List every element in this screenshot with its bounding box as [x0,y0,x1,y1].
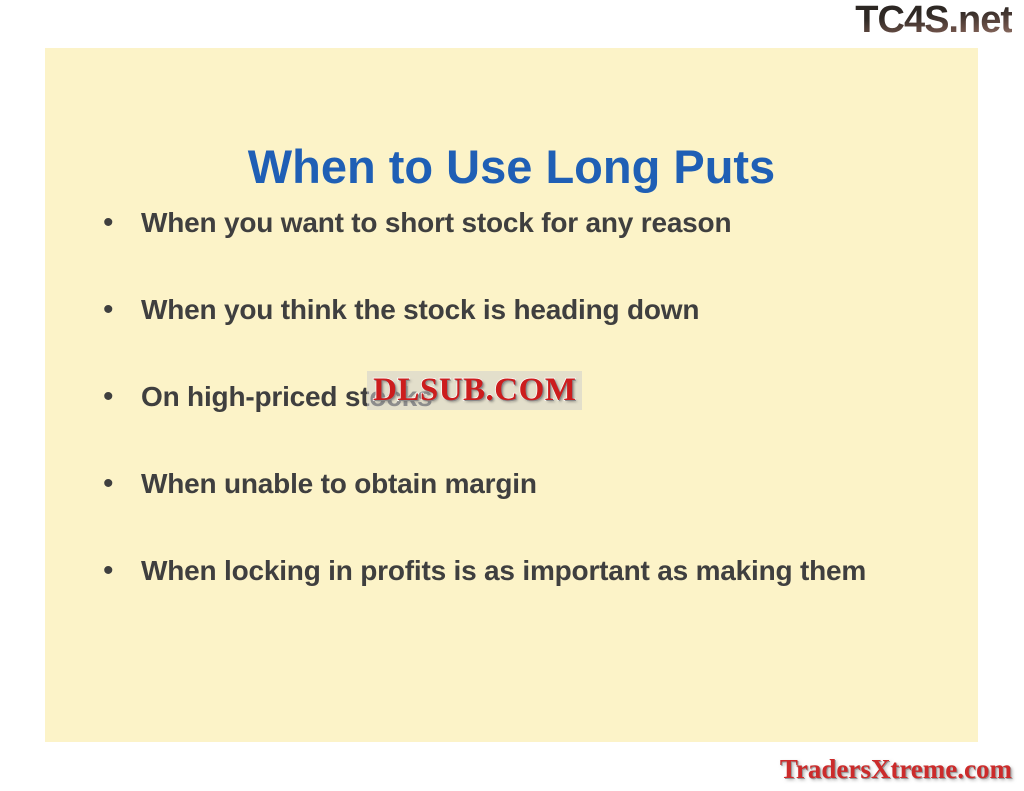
bullet-dot-icon: • [100,551,141,591]
list-item: • When unable to obtain margin [100,464,960,504]
page-title: When to Use Long Puts [45,141,978,193]
bullet-dot-icon: • [100,377,141,417]
bullet-dot-icon: • [100,290,141,330]
list-item-label: When unable to obtain margin [141,464,960,504]
list-item: • When you think the stock is heading do… [100,290,960,330]
list-item: • When locking in profits is as importan… [100,551,960,591]
watermark-dlsub: DLSUB.COM [367,371,582,410]
list-item-label: When you want to short stock for any rea… [141,203,960,243]
list-item-label: When you think the stock is heading down [141,290,960,330]
list-item-label: When locking in profits is as important … [141,551,960,591]
site-logo: TC4S.net [855,0,1012,42]
brand-tradersxtreme: TradersXtreme.com [780,753,1012,785]
list-item: • When you want to short stock for any r… [100,203,960,243]
bullet-dot-icon: • [100,203,141,243]
bullet-dot-icon: • [100,464,141,504]
